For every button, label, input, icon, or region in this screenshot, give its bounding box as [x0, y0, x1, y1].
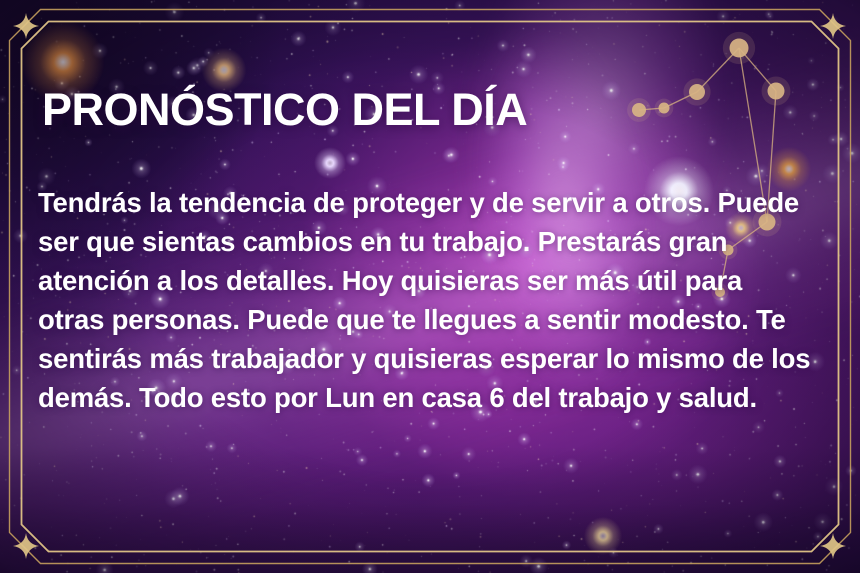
- horoscope-poster: PRONÓSTICO DEL DÍA Tendrás la tendencia …: [0, 0, 860, 573]
- poster-content: PRONÓSTICO DEL DÍA Tendrás la tendencia …: [42, 86, 814, 418]
- page-title: PRONÓSTICO DEL DÍA: [42, 86, 814, 133]
- forecast-body-text: Tendrás la tendencia de proteger y de se…: [38, 183, 813, 417]
